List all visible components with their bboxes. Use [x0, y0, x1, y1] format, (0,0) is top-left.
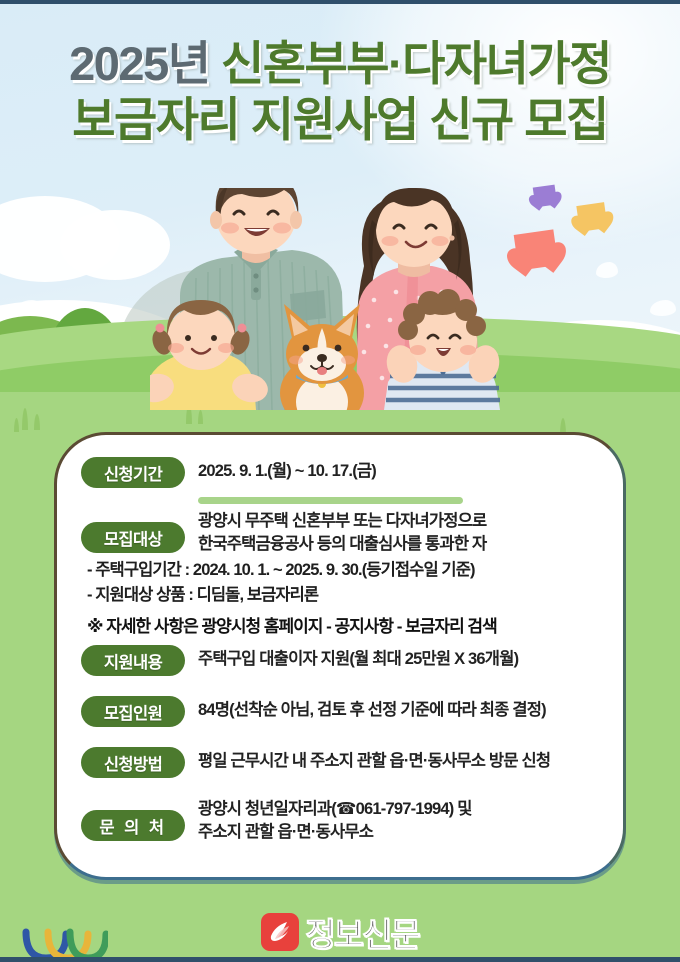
title-year: 2025년: [69, 37, 209, 90]
bottom-edge-bar: [0, 957, 680, 962]
bullet-eligible-products: - 지원대상 상품 : 디딤돌, 보금자리론: [81, 583, 599, 608]
title-line-1: 2025년 신혼부부·다자녀가정: [0, 36, 680, 92]
row-spacer: [81, 736, 599, 747]
title-line-2: 보금자리 지원사업 신규 모집: [0, 92, 680, 148]
heart-yellow-icon: [576, 202, 607, 232]
top-edge-bar: [0, 0, 680, 4]
bullet-purchase-period: - 주택구입기간 : 2024. 10. 1. ~ 2025. 9. 30.(등…: [81, 558, 599, 583]
contact-line-2: 주소지 관할 읍·면·동사무소: [198, 821, 599, 844]
info-row-application-method: 신청방법 평일 근무시간 내 주소지 관할 읍·면·동사무소 방문 신청: [81, 747, 599, 778]
info-card: 신청기간 2025. 9. 1.(월) ~ 10. 17.(금) 모집대상 광양…: [54, 432, 626, 880]
info-row-application-period: 신청기간 2025. 9. 1.(월) ~ 10. 17.(금): [81, 457, 599, 488]
info-row-support-details: 지원내용 주택구입 대출이자 지원(월 최대 25만원 X 36개월): [81, 645, 599, 676]
flame-swoosh-icon: [261, 913, 299, 951]
info-row-eligibility: 모집대상 광양시 무주택 신혼부부 또는 다자녀가정으로 한국주택금융공사 등의…: [81, 510, 599, 556]
row-spacer: [81, 685, 599, 696]
value-eligibility: 광양시 무주택 신혼부부 또는 다자녀가정으로 한국주택금융공사 등의 대출심사…: [198, 510, 599, 556]
label-contact: 문 의 처: [81, 810, 185, 841]
cloud-wisp-right-1: [596, 262, 618, 278]
value-application-period: 2025. 9. 1.(월) ~ 10. 17.(금): [198, 457, 599, 483]
value-recruitment-count: 84명(선착순 아님, 검토 후 선정 기준에 따라 최종 결정): [198, 696, 599, 722]
info-row-contact: 문 의 처 광양시 청년일자리과(☎061-797-1994) 및 주소지 관할…: [81, 798, 599, 844]
value-application-method: 평일 근무시간 내 주소지 관할 읍·면·동사무소 방문 신청: [198, 747, 599, 773]
label-application-period: 신청기간: [81, 457, 185, 488]
value-contact: 광양시 청년일자리과(☎061-797-1994) 및 주소지 관할 읍·면·동…: [198, 798, 599, 844]
title-subject: 신혼부부·다자녀가정: [221, 37, 611, 90]
poster-title: 2025년 신혼부부·다자녀가정 보금자리 지원사업 신규 모집: [0, 36, 680, 148]
contact-line-1: 광양시 청년일자리과(☎061-797-1994) 및: [198, 798, 599, 821]
logo-text: 정보신문: [305, 908, 418, 956]
label-application-method: 신청방법: [81, 747, 185, 778]
application-period-underline: [198, 497, 463, 504]
row-spacer: [81, 787, 599, 798]
footer-logo: 정보신문: [0, 908, 680, 956]
value-support-details: 주택구입 대출이자 지원(월 최대 25만원 X 36개월): [198, 645, 599, 671]
eligibility-line-2: 한국주택금융공사 등의 대출심사를 통과한 자: [198, 533, 599, 556]
cloud-wisp-right-2: [650, 300, 676, 316]
family-illustration: [150, 188, 550, 410]
label-recruitment-count: 모집인원: [81, 696, 185, 727]
eligibility-line-1: 광양시 무주택 신혼부부 또는 다자녀가정으로: [198, 510, 599, 533]
notice-text: ※ 자세한 사항은 광양시청 홈페이지 - 공지사항 - 보금자리 검색: [81, 614, 599, 640]
label-support-details: 지원내용: [81, 645, 185, 676]
label-eligibility: 모집대상: [81, 522, 185, 553]
poster-root: 2025년 신혼부부·다자녀가정 보금자리 지원사업 신규 모집 신청기간 20…: [0, 0, 680, 962]
info-row-recruitment-count: 모집인원 84명(선착순 아님, 검토 후 선정 기준에 따라 최종 결정): [81, 696, 599, 727]
